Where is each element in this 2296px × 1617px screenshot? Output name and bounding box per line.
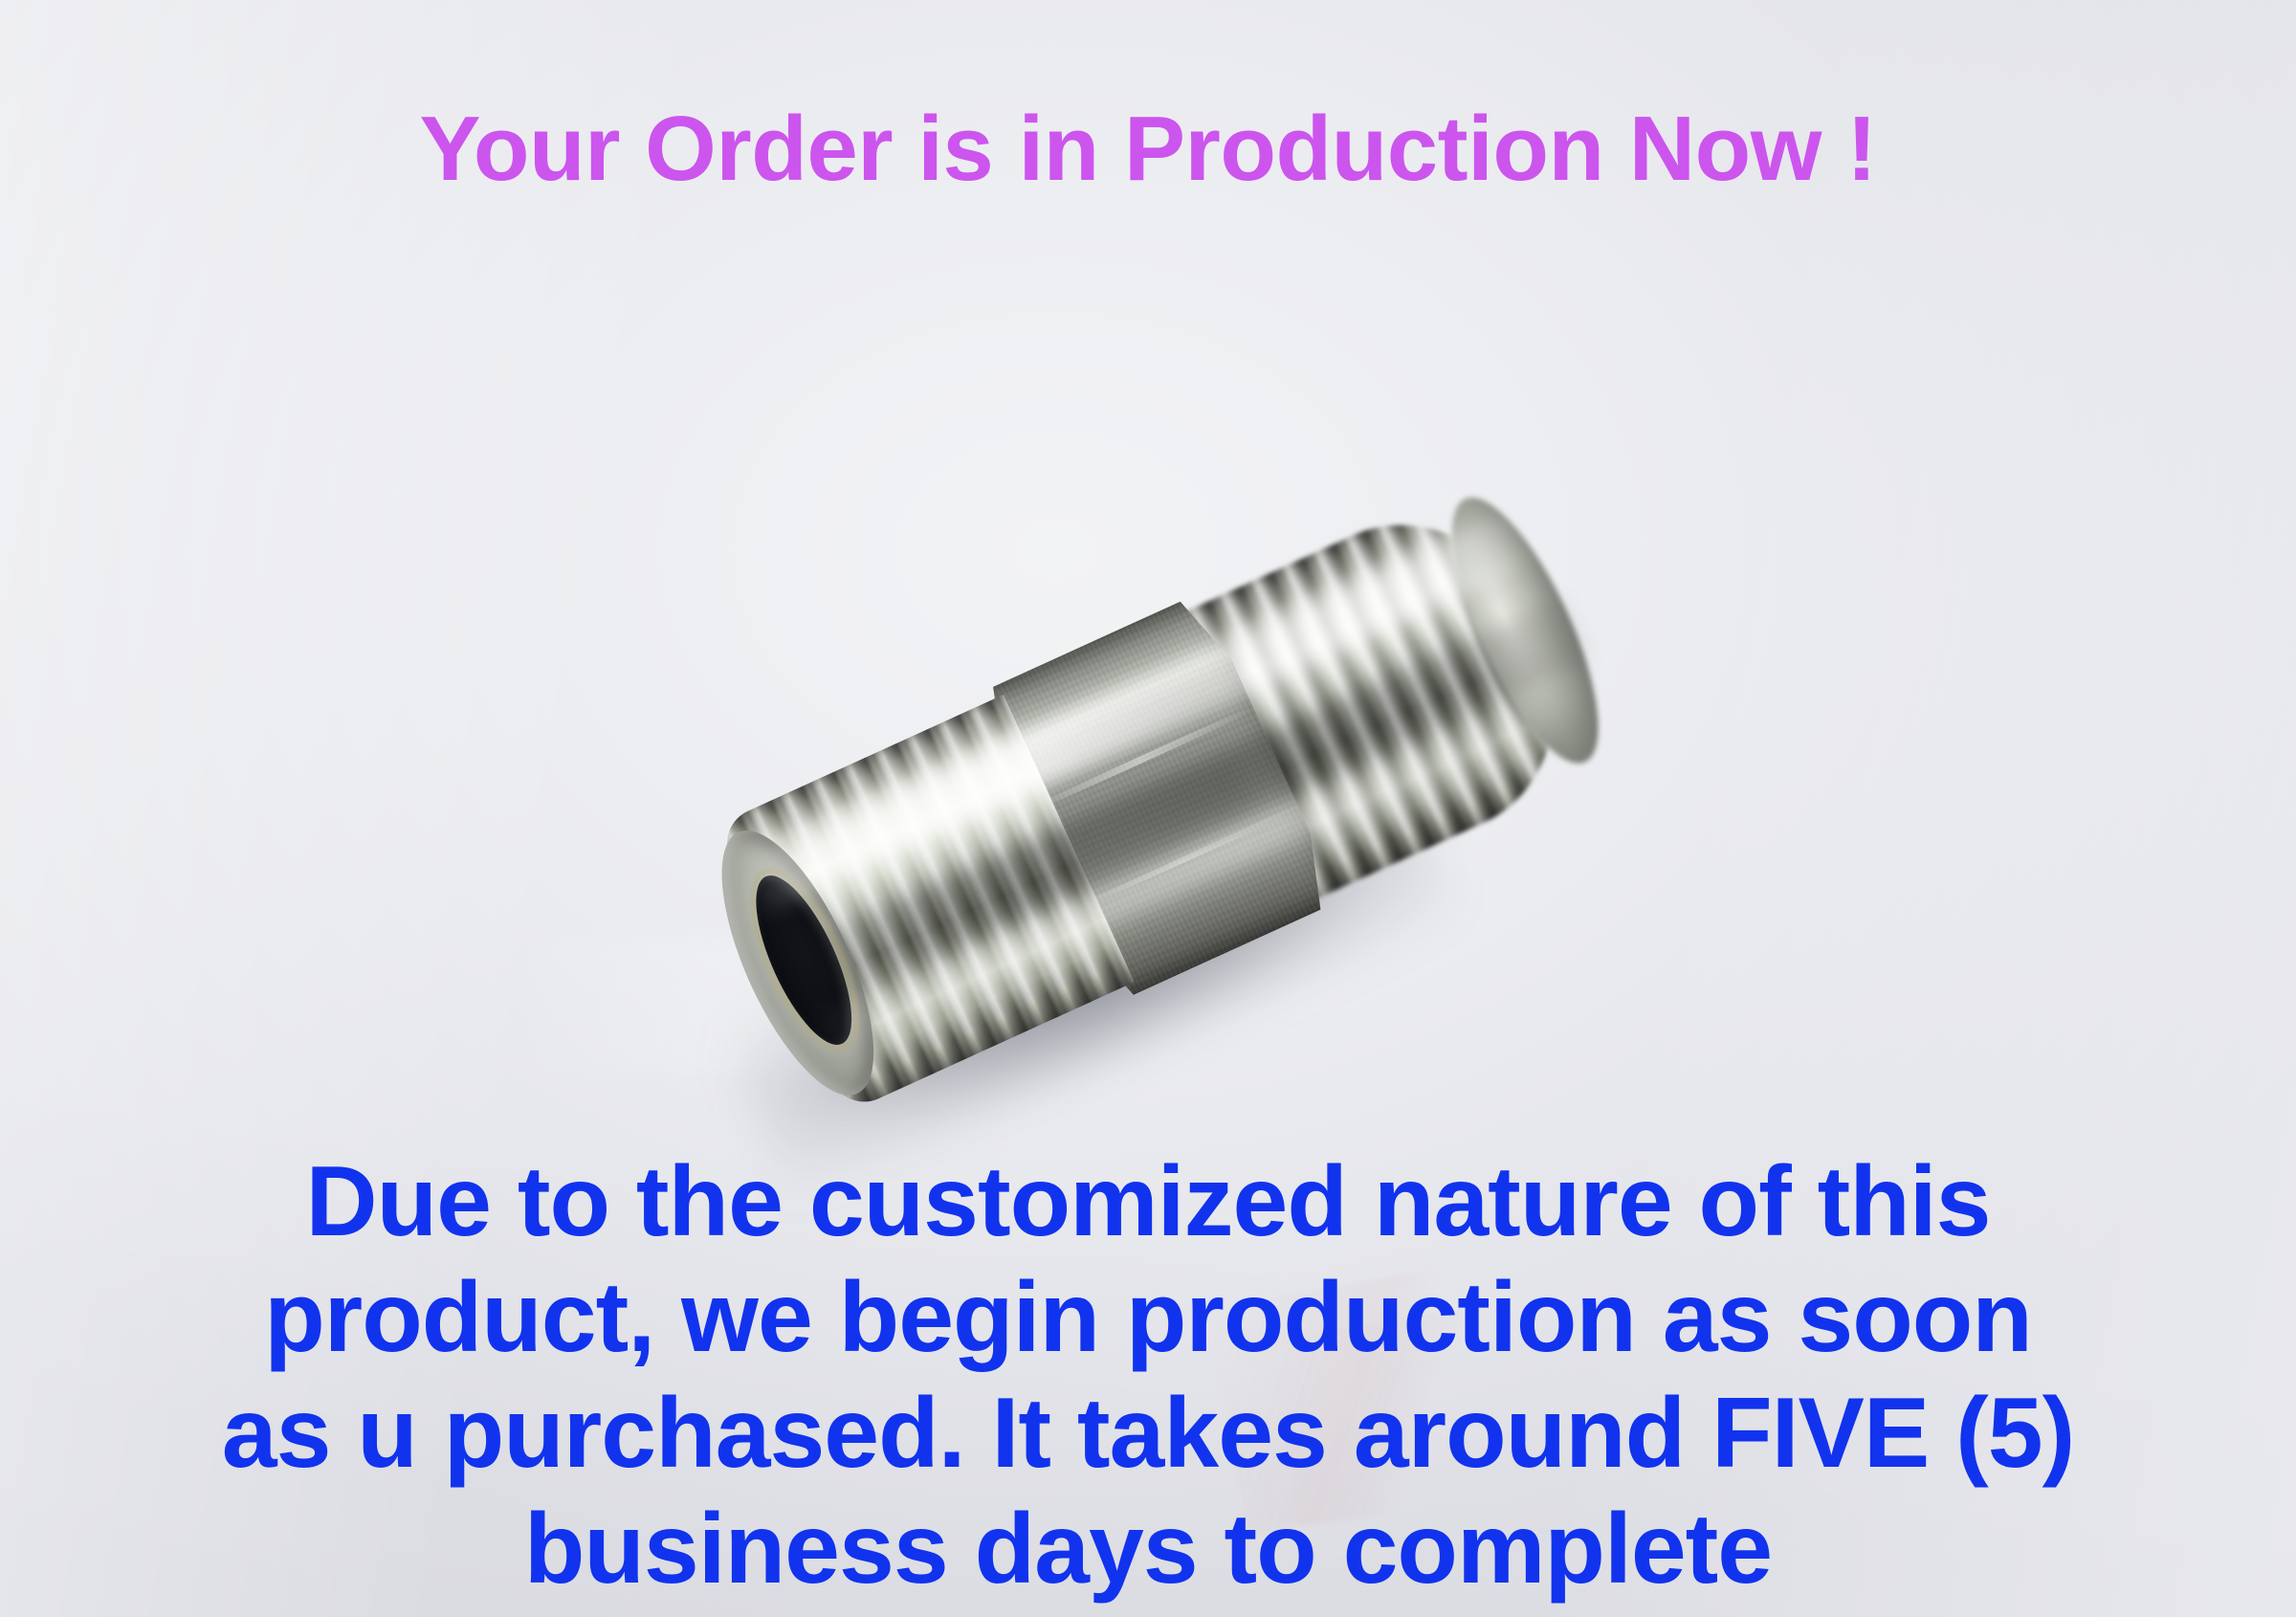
- announcement-image: Your Order is in Production Now !: [0, 0, 2296, 1617]
- notice-line-4: business days to complete: [0, 1492, 2296, 1607]
- notice-line-2: product, we begin production as soon: [0, 1260, 2296, 1376]
- page-title: Your Order is in Production Now !: [0, 103, 2296, 195]
- notice-line-3: as u purchased. It takes around FIVE (5): [0, 1376, 2296, 1492]
- production-notice: Due to the customized nature of this pro…: [0, 1144, 2296, 1607]
- notice-line-1: Due to the customized nature of this: [0, 1144, 2296, 1260]
- product-photo: [670, 402, 1645, 1206]
